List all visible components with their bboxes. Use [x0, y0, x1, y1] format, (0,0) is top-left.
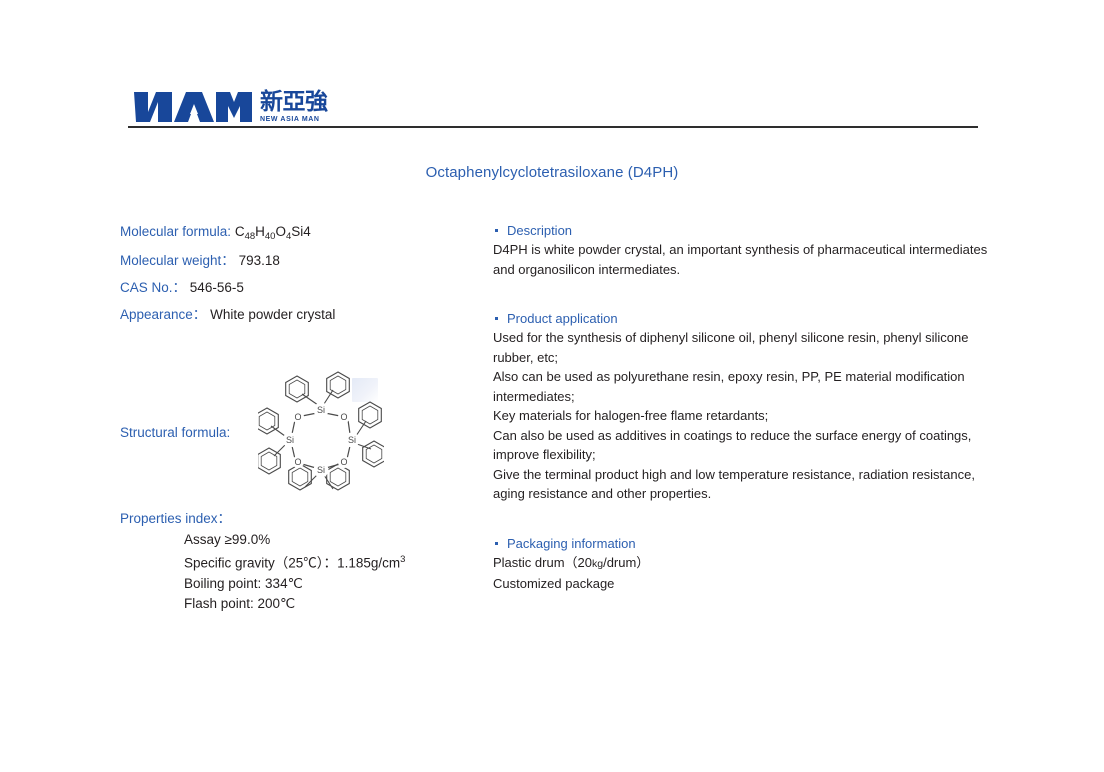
- phenyl-ring-7: [258, 448, 280, 474]
- phenyl-ring-3: [359, 402, 382, 428]
- description-line-1: D4PH is white powder crystal, an importa…: [493, 240, 993, 279]
- spec-value-appearance: White powder crystal: [210, 307, 335, 322]
- spec-row-cas-no: CAS No.： 546-56-5: [120, 274, 480, 301]
- spec-row-molecular-formula: Molecular formula: C48H40O4Si4: [120, 218, 480, 247]
- spec-row-appearance: Appearance： White powder crystal: [120, 301, 480, 328]
- specific-gravity-label: Specific gravity（25℃）：: [184, 556, 337, 571]
- spec-value-molecular-formula: C48H40O4Si4: [235, 224, 311, 239]
- spec-label-molecular-weight: Molecular weight：: [120, 253, 235, 268]
- section-heading-description: Description: [493, 221, 993, 240]
- specific-gravity-value: 1.185g/cm: [337, 556, 400, 571]
- logo-chinese-characters: 新亞強: [260, 90, 328, 114]
- packaging-drum-suffix: /drum）: [603, 555, 649, 570]
- phenyl-ring-1: [286, 376, 309, 402]
- application-line-1: Used for the synthesis of diphenyl silic…: [493, 328, 993, 367]
- properties-index-row-boiling-point: Boiling point: 334℃: [184, 574, 520, 594]
- nam-logomark-icon: [128, 90, 256, 124]
- page-header: 新亞強 NEW ASIA MAN: [128, 88, 978, 136]
- application-line-3: Key materials for halogen-free flame ret…: [493, 406, 993, 426]
- application-line-2: Also can be used as polyurethane resin, …: [493, 367, 993, 406]
- atom-label-o-1: O: [340, 412, 347, 422]
- chemical-structure-diagram: Si O Si O Si O Si O: [258, 370, 384, 492]
- packaging-line-customized: Customized package: [493, 574, 993, 594]
- bullet-icon: [495, 229, 498, 232]
- section-body-product-application: Used for the synthesis of diphenyl silic…: [493, 328, 993, 504]
- logo-chinese-block: 新亞強 NEW ASIA MAN: [260, 90, 328, 124]
- section-body-description: D4PH is white powder crystal, an importa…: [493, 240, 993, 279]
- atom-label-o-3: O: [294, 457, 301, 467]
- page-title: Octaphenylcyclotetrasiloxane (D4PH): [0, 164, 1104, 181]
- section-heading-text: Packaging information: [507, 536, 636, 551]
- spec-label-appearance: Appearance：: [120, 307, 206, 322]
- company-logo: 新亞強 NEW ASIA MAN: [128, 88, 328, 124]
- structural-formula-label: Structural formula:: [120, 425, 230, 440]
- properties-index-row-assay: Assay ≥99.0%: [184, 530, 520, 550]
- section-heading-packaging-information: Packaging information: [493, 534, 993, 553]
- atom-label-o-2: O: [340, 457, 347, 467]
- specifications-list: Molecular formula: C48H40O4Si4 Molecular…: [120, 218, 480, 328]
- spec-row-molecular-weight: Molecular weight： 793.18: [120, 247, 480, 274]
- right-content-column: Description D4PH is white powder crystal…: [493, 221, 993, 616]
- atom-label-si-3: Si: [317, 465, 325, 475]
- packaging-drum-unit: kg: [592, 558, 603, 570]
- specific-gravity-superscript: 3: [400, 554, 405, 565]
- spec-value-molecular-weight: 793.18: [239, 253, 280, 268]
- properties-index-row-flash-point: Flash point: 200℃: [184, 594, 520, 614]
- section-body-packaging-information: Plastic drum（20kg/drum） Customized packa…: [493, 553, 993, 594]
- application-line-5: Give the terminal product high and low t…: [493, 465, 993, 504]
- atom-label-si-1: Si: [317, 405, 325, 415]
- logo-subtitle: NEW ASIA MAN: [260, 115, 328, 124]
- properties-index-row-specific-gravity: Specific gravity（25℃）：1.185g/cm3: [184, 550, 520, 574]
- packaging-drum-prefix: Plastic drum（20: [493, 555, 592, 570]
- header-divider: [128, 126, 978, 128]
- phenyl-ring-5: [327, 464, 350, 490]
- spec-value-cas-no: 546-56-5: [190, 280, 244, 295]
- section-product-application: Product application Used for the synthes…: [493, 309, 993, 504]
- application-line-4: Can also be used as additives in coating…: [493, 426, 993, 465]
- phenyl-ring-8: [258, 408, 278, 434]
- properties-index-title: Properties index：: [120, 508, 520, 530]
- packaging-line-plastic-drum: Plastic drum（20kg/drum）: [493, 553, 993, 575]
- atom-label-o-4: O: [294, 412, 301, 422]
- section-heading-text: Description: [507, 223, 572, 238]
- section-description: Description D4PH is white powder crystal…: [493, 221, 993, 279]
- properties-index-block: Properties index： Assay ≥99.0% Specific …: [120, 508, 520, 614]
- section-packaging-information: Packaging information Plastic drum（20kg/…: [493, 534, 993, 594]
- section-heading-product-application: Product application: [493, 309, 993, 328]
- bullet-icon: [495, 542, 498, 545]
- spec-label-molecular-formula: Molecular formula:: [120, 224, 231, 239]
- atom-label-si-4: Si: [286, 435, 294, 445]
- section-heading-text: Product application: [507, 311, 618, 326]
- structural-formula-block: Structural formula:: [120, 370, 500, 500]
- atom-label-si-2: Si: [348, 435, 356, 445]
- phenyl-ring-6: [289, 464, 312, 490]
- phenyl-ring-4: [363, 441, 384, 467]
- spec-label-cas-no: CAS No.：: [120, 280, 186, 295]
- bullet-icon: [495, 317, 498, 320]
